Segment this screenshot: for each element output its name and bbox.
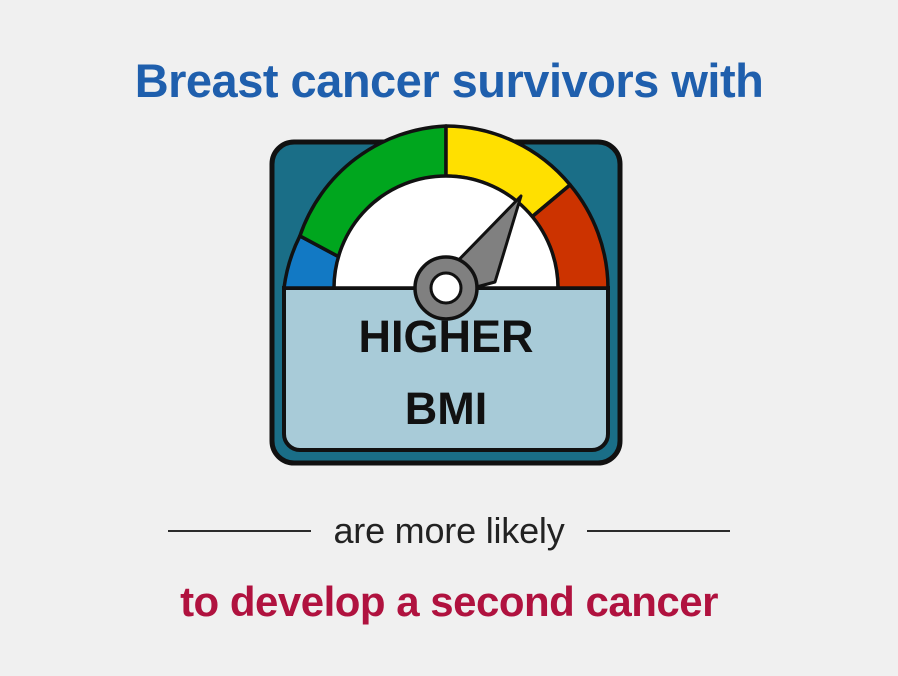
midline-row: are more likely: [0, 506, 898, 556]
bmi-gauge-card: HIGHER BMI: [269, 139, 623, 466]
divider-rule-right: [587, 530, 730, 532]
divider-rule-left: [168, 530, 311, 532]
midline-text: are more likely: [333, 510, 564, 552]
gauge-illustration: HIGHER BMI: [269, 139, 623, 466]
page-title: Breast cancer survivors with: [0, 56, 898, 105]
infographic-poster: Breast cancer survivors with: [0, 0, 898, 676]
gauge-hub-center: [431, 273, 461, 303]
gauge-label-primary: HIGHER: [358, 311, 533, 362]
kicker-text: to develop a second cancer: [0, 578, 898, 626]
gauge-label-secondary: BMI: [405, 383, 488, 434]
